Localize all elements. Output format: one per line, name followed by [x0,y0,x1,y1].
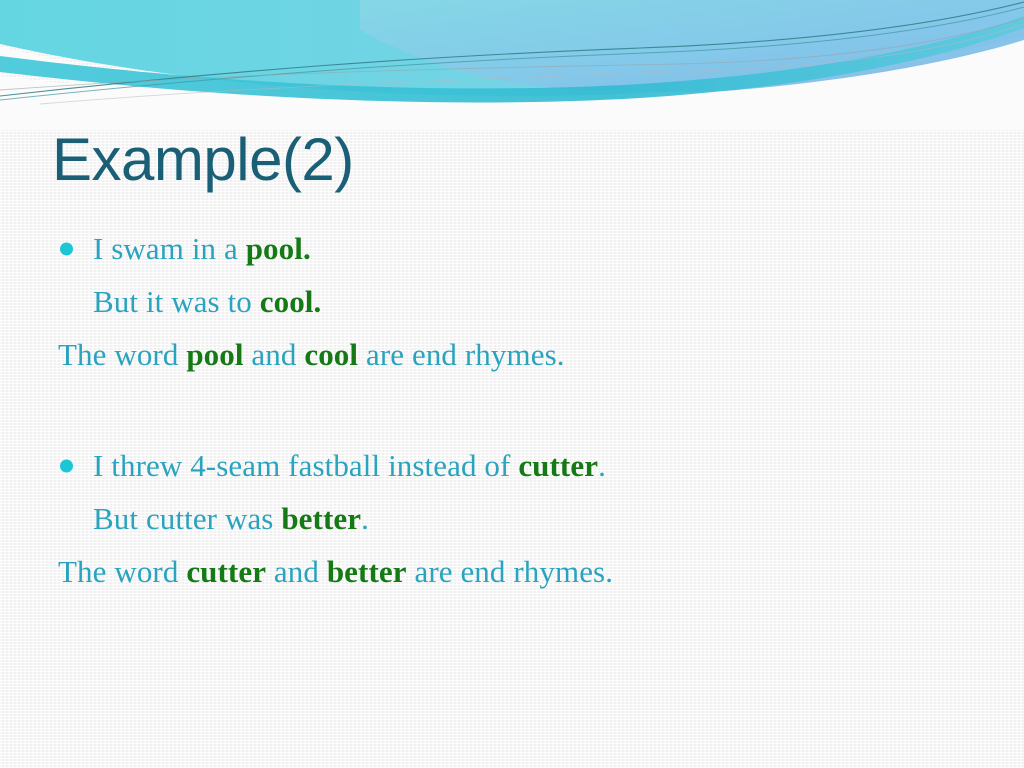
bullet-dot-icon [60,459,73,472]
bullet-dot-icon [60,242,73,255]
thin-teal-line [0,2,1024,96]
slide-body: I swam in a pool. But it was to cool. Th… [58,222,978,598]
normal-text: and [244,337,305,372]
body-line: But it was to cool. [58,275,978,328]
slide-canvas: Example(2) I swam in a pool. But it was … [0,0,1024,768]
normal-text: I threw 4-seam fastball instead of [93,448,518,483]
body-line: The word cutter and better are end rhyme… [58,545,978,598]
body-line: I swam in a pool. [58,222,978,275]
line-text: The word pool and cool are end rhymes. [58,337,565,372]
keyword-text: cutter [186,554,266,589]
normal-text: . [598,448,606,483]
deep-cyan-sweep [0,16,1024,102]
normal-text: The word [58,554,186,589]
cyan-top-band [0,0,1024,96]
body-line: But cutter was better. [58,492,978,545]
bullet-block-2: I threw 4-seam fastball instead of cutte… [58,439,978,598]
thin-gray-line [0,18,1024,90]
bullet-block-1: I swam in a pool. But it was to cool. Th… [58,222,978,381]
line-text: I swam in a pool. [93,231,311,266]
keyword-text: cutter [518,448,598,483]
keyword-text: better [327,554,407,589]
block-spacer [58,381,978,439]
line-text: The word cutter and better are end rhyme… [58,554,613,589]
white-swoosh [0,40,1024,121]
keyword-text: cool [260,284,314,319]
thin-teal-line-2 [0,7,1024,100]
line-text: But cutter was better. [93,501,369,536]
line-text: I threw 4-seam fastball instead of cutte… [93,448,606,483]
decorative-wave-banner [0,0,1024,130]
normal-text: But it was to [93,284,260,319]
normal-text: The word [58,337,186,372]
keyword-text: . [303,231,311,266]
body-line: The word pool and cool are end rhymes. [58,328,978,381]
line-text: But it was to cool. [93,284,321,319]
normal-text: But cutter was [93,501,281,536]
keyword-text: pool [186,337,243,372]
keyword-text: . [314,284,322,319]
normal-text: . [361,501,369,536]
keyword-text: cool [304,337,358,372]
page-title: Example(2) [52,128,354,191]
normal-text: and [266,554,327,589]
body-line: I threw 4-seam fastball instead of cutte… [58,439,978,492]
normal-text: I swam in a [93,231,246,266]
keyword-text: better [281,501,361,536]
white-gap-lower [0,52,1024,130]
blue-gradient-band [360,0,1024,92]
thin-gray-line-2 [40,24,1024,104]
normal-text: are end rhymes. [358,337,564,372]
normal-text: are end rhymes. [407,554,613,589]
keyword-text: pool [246,231,303,266]
